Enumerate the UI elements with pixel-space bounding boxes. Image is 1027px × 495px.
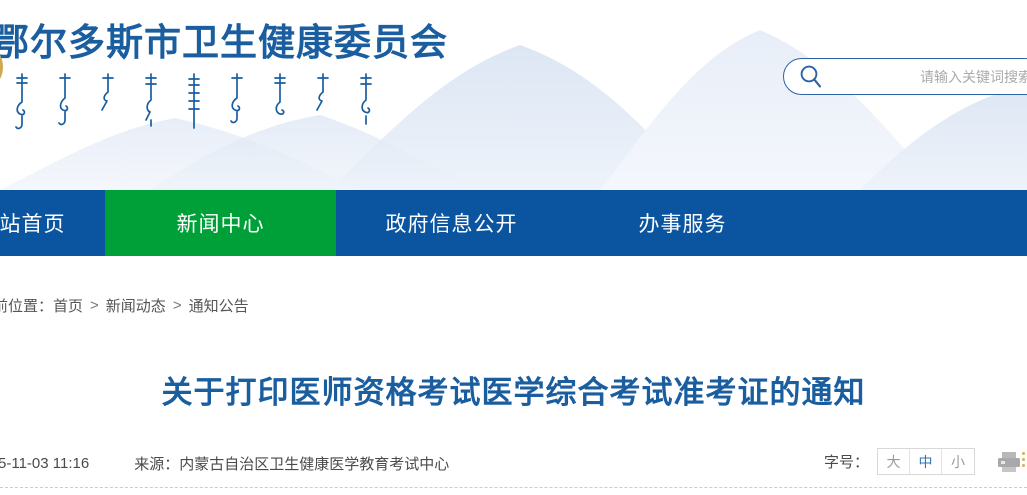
article-source-value: 内蒙古自治区卫生健康医学教育考试中心 bbox=[179, 456, 449, 473]
search-input[interactable] bbox=[826, 59, 1027, 94]
font-size-control: 字号： 大 中 小 bbox=[824, 448, 975, 475]
nav-label: 新闻中心 bbox=[177, 208, 265, 238]
mongolian-glyph bbox=[100, 72, 116, 132]
org-name-cn: 鄂尔多斯市卫生健康委员会 bbox=[0, 18, 448, 68]
mongolian-glyph bbox=[358, 72, 374, 132]
breadcrumb-separator: > bbox=[90, 297, 99, 314]
breadcrumb: 当前位置： 首页 > 新闻动态 > 通知公告 bbox=[0, 292, 1027, 318]
breadcrumb-prefix: 当前位置： bbox=[0, 295, 53, 316]
nav-item-government-info[interactable]: 政府信息公开 bbox=[336, 190, 567, 256]
mongolian-glyph bbox=[229, 72, 245, 132]
font-size-buttons: 大 中 小 bbox=[877, 448, 975, 475]
nav-item-home[interactable]: 网站首页 bbox=[0, 190, 105, 256]
org-name-mn bbox=[0, 72, 448, 134]
article-source-label: 来源： bbox=[134, 456, 179, 473]
font-size-label: 字号： bbox=[824, 451, 869, 472]
mongolian-glyph bbox=[143, 72, 159, 132]
decorative-dots bbox=[1022, 452, 1025, 467]
font-size-medium-button[interactable]: 中 bbox=[910, 449, 942, 474]
article-source: 来源：内蒙古自治区卫生健康医学教育考试中心 bbox=[134, 453, 449, 474]
breadcrumb-item-notice[interactable]: 通知公告 bbox=[189, 295, 249, 316]
font-size-small-button[interactable]: 小 bbox=[942, 449, 974, 474]
breadcrumb-item-news[interactable]: 新闻动态 bbox=[106, 295, 166, 316]
site-header: 鄂尔多斯市卫生健康委员会 bbox=[0, 0, 1027, 190]
content-divider bbox=[0, 487, 1027, 489]
font-size-large-button[interactable]: 大 bbox=[878, 449, 910, 474]
nav-label: 办事服务 bbox=[639, 208, 727, 238]
nav-item-news-center[interactable]: 新闻中心 bbox=[105, 190, 336, 256]
printer-icon[interactable] bbox=[996, 450, 1022, 474]
mongolian-glyph bbox=[57, 72, 73, 132]
breadcrumb-item-home[interactable]: 首页 bbox=[53, 295, 83, 316]
nav-label: 政府信息公开 bbox=[386, 208, 518, 238]
article-title: 关于打印医师资格考试医学综合考试准考证的通知 bbox=[0, 367, 1027, 412]
mongolian-glyph bbox=[186, 72, 202, 132]
nav-item-services[interactable]: 办事服务 bbox=[567, 190, 798, 256]
search-icon bbox=[796, 62, 826, 92]
search-box[interactable] bbox=[783, 58, 1027, 95]
article-date: 2025-11-03 11:16 bbox=[0, 455, 89, 472]
site-logo[interactable]: 鄂尔多斯市卫生健康委员会 bbox=[0, 18, 448, 134]
mongolian-glyph bbox=[14, 72, 30, 132]
breadcrumb-separator: > bbox=[173, 297, 182, 314]
main-navigation: 网站首页 新闻中心 政府信息公开 办事服务 bbox=[0, 190, 1027, 256]
mongolian-glyph bbox=[272, 72, 288, 132]
nav-label: 网站首页 bbox=[0, 208, 66, 238]
mongolian-glyph bbox=[315, 72, 331, 132]
